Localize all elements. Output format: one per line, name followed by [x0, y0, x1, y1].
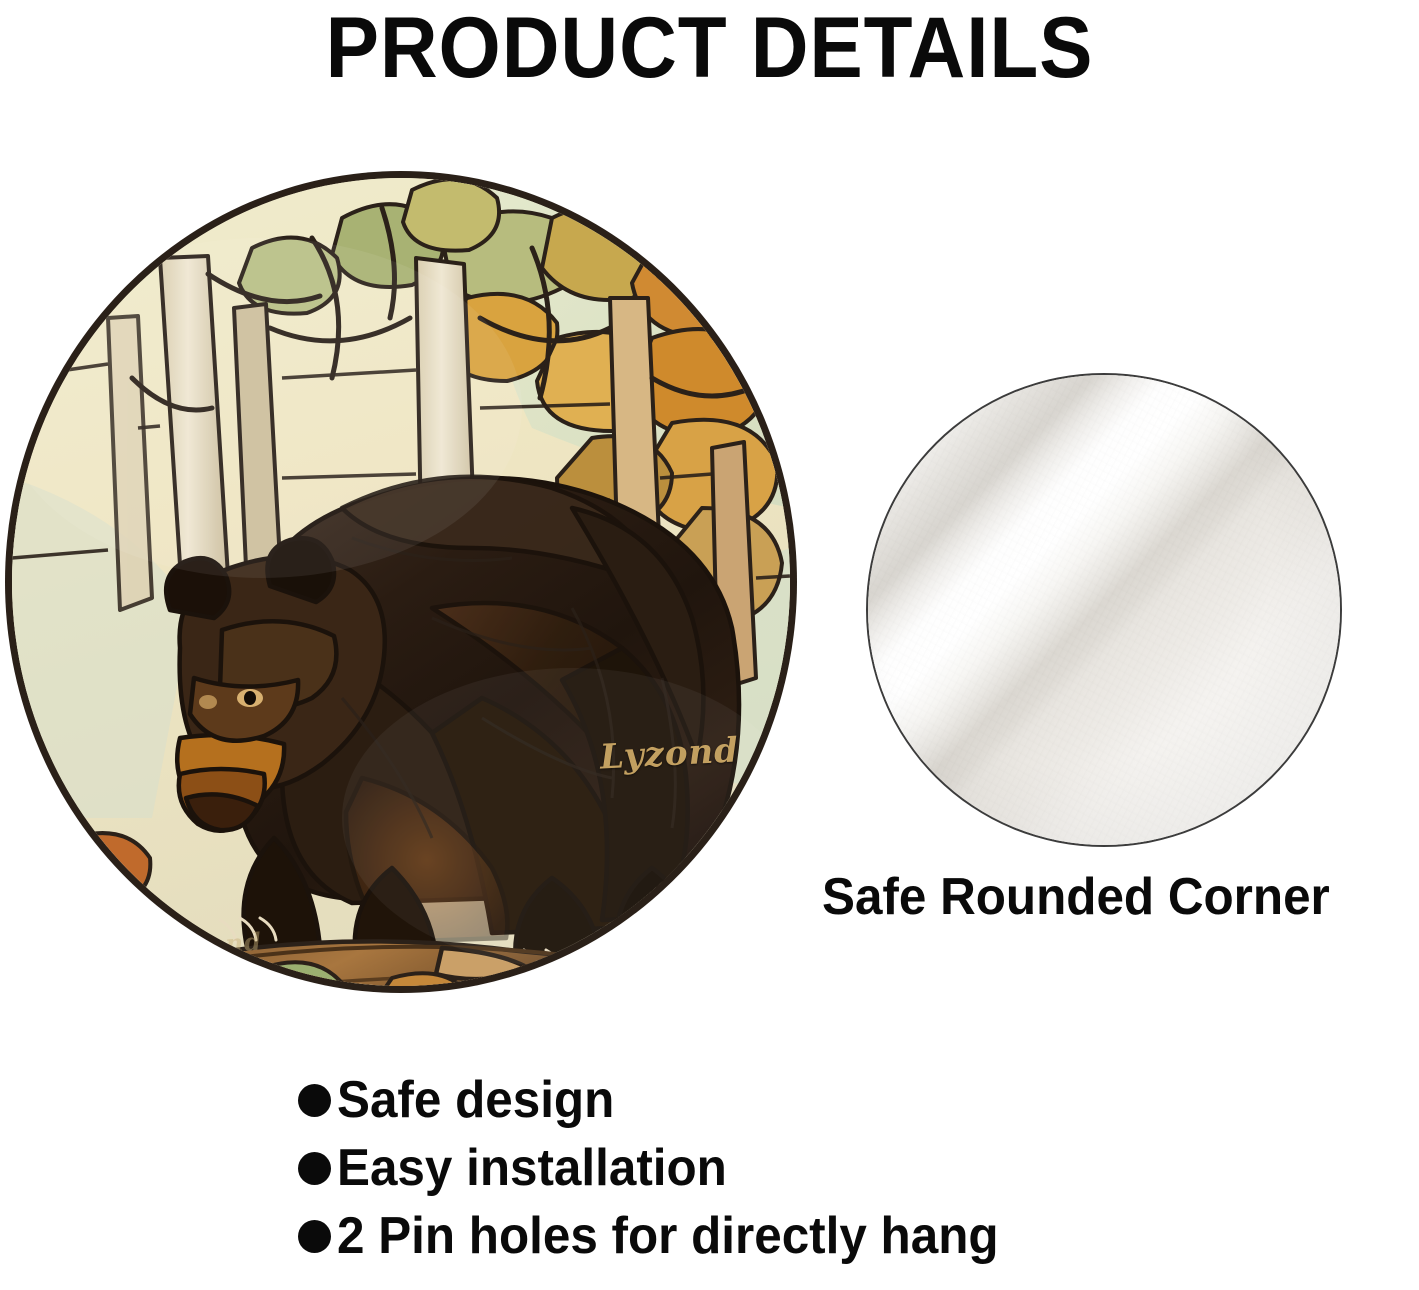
list-item: Safe design	[298, 1068, 1398, 1132]
corner-vignette	[868, 375, 1340, 845]
safe-rounded-corner-closeup-image	[866, 373, 1342, 847]
feature-label: 2 Pin holes for directly hang	[337, 1207, 999, 1265]
filled-circle-icon	[298, 1084, 331, 1117]
feature-list: Safe design Easy installation 2 Pin hole…	[298, 1068, 1398, 1272]
feature-label: Easy installation	[337, 1139, 727, 1197]
feature-label: Safe design	[337, 1071, 614, 1129]
product-image-stained-glass-bear: Lyzond Lyzond	[12, 178, 790, 986]
list-item: 2 Pin holes for directly hang	[298, 1204, 1398, 1268]
filled-circle-icon	[298, 1152, 331, 1185]
safe-rounded-corner-caption: Safe Rounded Corner	[822, 868, 1330, 926]
filled-circle-icon	[298, 1220, 331, 1253]
page-title: PRODUCT DETAILS	[50, 2, 1370, 94]
list-item: Easy installation	[298, 1136, 1398, 1200]
stained-glass-artwork	[12, 178, 790, 986]
